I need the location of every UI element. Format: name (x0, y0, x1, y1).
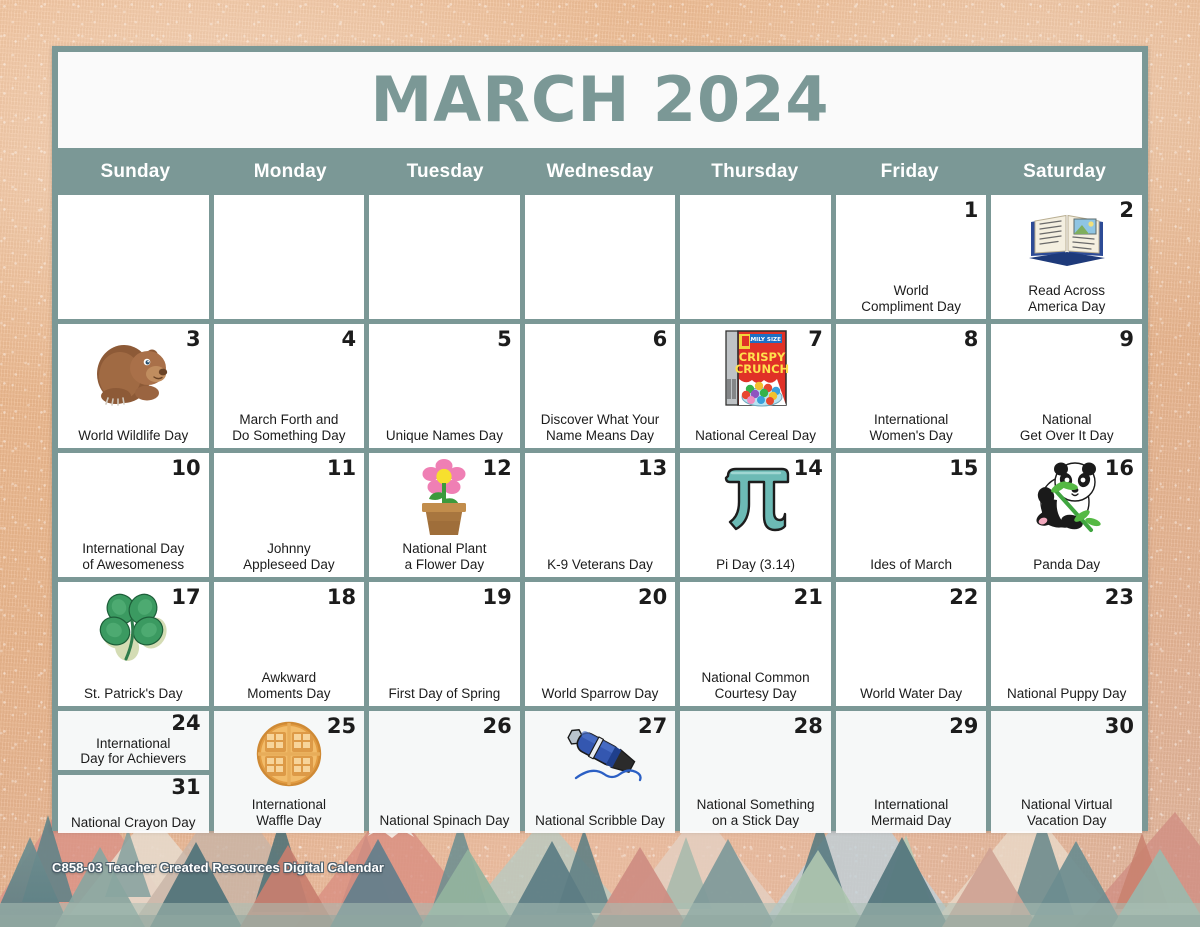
day-event-label: InternationalWaffle Day (218, 797, 361, 828)
day-event-label: World Wildlife Day (62, 428, 205, 444)
day-number: 31 (171, 775, 200, 799)
day-number: 11 (327, 456, 356, 480)
day-number: 27 (638, 714, 667, 738)
day-cell-empty (369, 195, 520, 319)
calendar-widget: MARCH 2024 Sunday Monday Tuesday Wednesd… (52, 46, 1148, 831)
day-event-label: NationalGet Over It Day (995, 412, 1138, 443)
day-number: 13 (638, 456, 667, 480)
day-cell[interactable]: 21National CommonCourtesy Day (680, 582, 831, 706)
day-event-label: National VirtualVacation Day (995, 797, 1138, 828)
footer-credit: C858-03 Teacher Created Resources Digita… (52, 860, 384, 875)
day-event-label: Read AcrossAmerica Day (995, 283, 1138, 314)
day-cell[interactable]: 14 Pi Day (3.14) (680, 453, 831, 577)
day-number: 3 (186, 327, 201, 351)
calendar-week-row: 17 (58, 582, 1142, 706)
day-number: 18 (327, 585, 356, 609)
day-number: 7 (808, 327, 823, 351)
day-number: 24 (171, 711, 200, 735)
day-number: 4 (342, 327, 357, 351)
day-event-label: K-9 Veterans Day (529, 557, 672, 573)
day-number: 26 (482, 714, 511, 738)
weekday-wednesday: Wednesday (523, 154, 678, 190)
day-cell[interactable]: 1WorldCompliment Day (836, 195, 987, 319)
day-event-label: Unique Names Day (373, 428, 516, 444)
day-number: 30 (1105, 714, 1134, 738)
day-event-label: Discover What YourName Means Day (529, 412, 672, 443)
day-number: 2 (1119, 198, 1134, 222)
day-number: 8 (964, 327, 979, 351)
day-cell[interactable]: 17 (58, 582, 209, 706)
svg-text:CRUNCH: CRUNCH (734, 362, 788, 376)
day-event-label: World Water Day (840, 686, 983, 702)
day-cell[interactable]: 10International Dayof Awesomeness (58, 453, 209, 577)
weekday-friday: Friday (832, 154, 987, 190)
day-cell[interactable]: 29InternationalMermaid Day (836, 711, 987, 833)
day-event-label: World Sparrow Day (529, 686, 672, 702)
day-number: 21 (794, 585, 823, 609)
day-number: 9 (1119, 327, 1134, 351)
day-cell[interactable]: 27 National Scribble Day (525, 711, 676, 833)
day-event-label: Panda Day (995, 557, 1138, 573)
calendar-week-row: 1WorldCompliment Day2 (58, 195, 1142, 319)
day-number: 15 (949, 456, 978, 480)
day-number: 17 (171, 585, 200, 609)
day-cell-empty (58, 195, 209, 319)
day-event-label: Ides of March (840, 557, 983, 573)
day-event-label: National Puppy Day (995, 686, 1138, 702)
day-cell[interactable]: 22World Water Day (836, 582, 987, 706)
day-cell[interactable]: 30National VirtualVacation Day (991, 711, 1142, 833)
page-title: MARCH 2024 (371, 69, 830, 131)
day-cell[interactable]: 24InternationalDay for Achievers (58, 711, 209, 770)
day-cell[interactable]: 26National Spinach Day (369, 711, 520, 833)
weekday-tuesday: Tuesday (368, 154, 523, 190)
day-cell[interactable]: 28National Somethingon a Stick Day (680, 711, 831, 833)
day-event-label: National Somethingon a Stick Day (684, 797, 827, 828)
day-event-label: International Dayof Awesomeness (62, 541, 205, 572)
day-number: 29 (949, 714, 978, 738)
day-number: 25 (327, 714, 356, 738)
day-cell[interactable]: 19First Day of Spring (369, 582, 520, 706)
day-number: 14 (794, 456, 823, 480)
weekday-saturday: Saturday (987, 154, 1142, 190)
day-cell[interactable]: 13K-9 Veterans Day (525, 453, 676, 577)
day-event-label: InternationalMermaid Day (840, 797, 983, 828)
day-event-label: March Forth andDo Something Day (218, 412, 361, 443)
day-cell[interactable]: 6Discover What YourName Means Day (525, 324, 676, 448)
day-cell[interactable]: 5Unique Names Day (369, 324, 520, 448)
day-event-label: AwkwardMoments Day (218, 670, 361, 701)
day-number: 12 (482, 456, 511, 480)
calendar-weeks: 1WorldCompliment Day2 (58, 195, 1142, 833)
day-event-label: First Day of Spring (373, 686, 516, 702)
day-cell[interactable]: 15Ides of March (836, 453, 987, 577)
day-cell[interactable]: 7 FAMILY SIZE CRISPY CRUNCH (680, 324, 831, 448)
day-cell[interactable]: 8InternationalWomen's Day (836, 324, 987, 448)
day-cell[interactable]: 4March Forth andDo Something Day (214, 324, 365, 448)
day-event-label: National Cereal Day (684, 428, 827, 444)
day-event-label: InternationalDay for Achievers (62, 736, 205, 767)
day-event-label: National Crayon Day (62, 815, 205, 831)
day-cell[interactable]: 9NationalGet Over It Day (991, 324, 1142, 448)
day-number: 28 (794, 714, 823, 738)
day-event-label: National Spinach Day (373, 813, 516, 829)
day-cell[interactable]: 18AwkwardMoments Day (214, 582, 365, 706)
day-number: 5 (497, 327, 512, 351)
day-number: 6 (653, 327, 668, 351)
day-number: 22 (949, 585, 978, 609)
day-number: 1 (964, 198, 979, 222)
day-number: 20 (638, 585, 667, 609)
day-cell[interactable]: 11JohnnyAppleseed Day (214, 453, 365, 577)
calendar-week-row: 3 World (58, 324, 1142, 448)
day-event-label: St. Patrick's Day (62, 686, 205, 702)
weekday-monday: Monday (213, 154, 368, 190)
day-number: 16 (1105, 456, 1134, 480)
day-event-label: National Planta Flower Day (373, 541, 516, 572)
day-event-label: InternationalWomen's Day (840, 412, 983, 443)
calendar-week-row: 10International Dayof Awesomeness11Johnn… (58, 453, 1142, 577)
weekday-sunday: Sunday (58, 154, 213, 190)
day-event-label: WorldCompliment Day (840, 283, 983, 314)
weekday-header-row: Sunday Monday Tuesday Wednesday Thursday… (58, 154, 1142, 190)
day-cell-empty (525, 195, 676, 319)
day-cell-empty (680, 195, 831, 319)
day-cell[interactable]: 3 World (58, 324, 209, 448)
day-number: 19 (482, 585, 511, 609)
calendar-title-banner: MARCH 2024 (58, 52, 1142, 148)
day-cell[interactable]: 12 National Planta Flower Day (369, 453, 520, 577)
calendar-week-row: 24InternationalDay for Achievers31Nation… (58, 711, 1142, 833)
day-cell-empty (214, 195, 365, 319)
day-cell[interactable]: 25 (214, 711, 365, 833)
day-event-label: Pi Day (3.14) (684, 557, 827, 573)
day-number: 10 (171, 456, 200, 480)
day-cell[interactable]: 2 Read Ac (991, 195, 1142, 319)
weekday-thursday: Thursday (677, 154, 832, 190)
day-cell-split-column: 24InternationalDay for Achievers31Nation… (58, 711, 209, 833)
day-cell[interactable]: 23National Puppy Day (991, 582, 1142, 706)
day-cell[interactable]: 31National Crayon Day (58, 775, 209, 834)
day-event-label: National Scribble Day (529, 813, 672, 829)
day-cell[interactable]: 20World Sparrow Day (525, 582, 676, 706)
day-event-label: National CommonCourtesy Day (684, 670, 827, 701)
day-event-label: JohnnyAppleseed Day (218, 541, 361, 572)
day-number: 23 (1105, 585, 1134, 609)
day-cell[interactable]: 16 (991, 453, 1142, 577)
